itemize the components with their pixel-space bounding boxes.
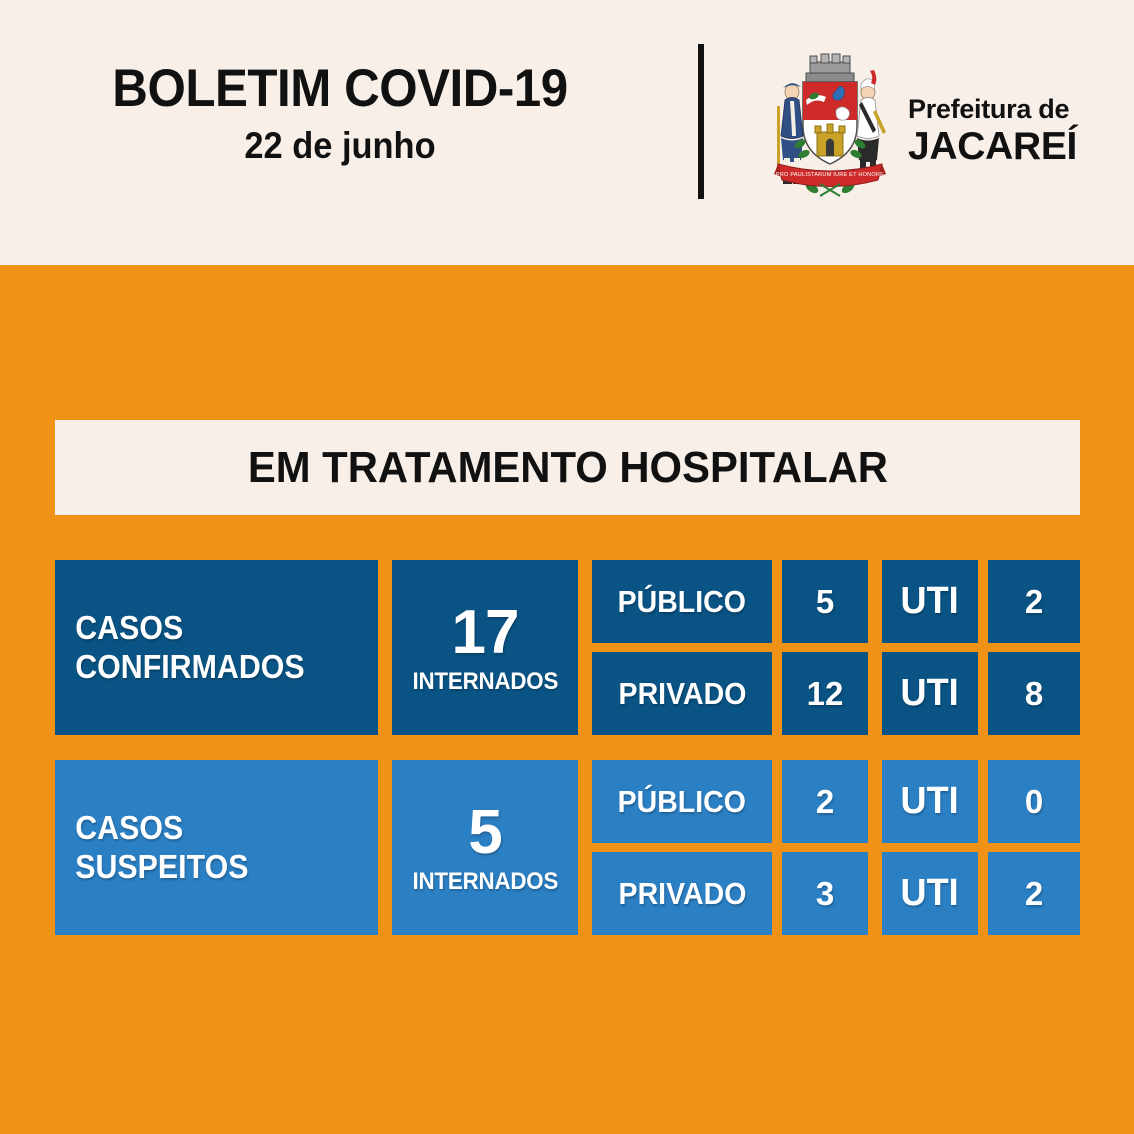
svg-text:PRO PAULISTARUM IURE ET HONORE: PRO PAULISTARUM IURE ET HONORE <box>776 172 884 178</box>
brand-prefeitura-label: Prefeitura de <box>908 96 1077 123</box>
subrow-uti-count-value: 8 <box>1025 675 1043 713</box>
subrow-uti-label: UTI <box>901 580 959 623</box>
subrow-count-cell: 12 <box>782 652 868 735</box>
subrow-uti-count-cell: 8 <box>988 652 1080 735</box>
brand-city-name: JACAREÍ <box>908 127 1077 166</box>
brand-text: Prefeitura de JACAREÍ <box>908 96 1077 166</box>
subrow-uti-count-cell: 2 <box>988 560 1080 643</box>
subrow-count-cell: 2 <box>782 760 868 843</box>
subrow-type-label: PÚBLICO <box>618 584 746 620</box>
jacarei-coat-of-arms-icon: PRO PAULISTARUM IURE ET HONORE <box>770 48 890 203</box>
header-title-block: BOLETIM COVID-19 22 de junho <box>0 62 680 164</box>
subrow-count-cell: 3 <box>782 852 868 935</box>
subrow-uti-count-cell: 0 <box>988 760 1080 843</box>
subrow-uti-cell: UTI <box>882 560 978 643</box>
subrow-uti-label: UTI <box>901 780 959 823</box>
table-row: CASOS CONFIRMADOS 17 INTERNADOS PÚBLICO … <box>55 560 1080 735</box>
row-total-caption: INTERNADOS <box>412 670 558 694</box>
row-total-number: 17 <box>407 602 564 664</box>
table-row: CASOS SUSPEITOS 5 INTERNADOS PÚBLICO 2 U… <box>55 760 1080 935</box>
row-label-cell: CASOS CONFIRMADOS <box>55 560 378 735</box>
subrow-type-label: PÚBLICO <box>618 784 746 820</box>
subrow-count-value: 2 <box>816 783 834 821</box>
row-label-line1: CASOS <box>75 609 183 646</box>
subrow-count-value: 5 <box>816 583 834 621</box>
row-label-text: CASOS CONFIRMADOS <box>55 609 352 686</box>
subrow-uti-cell: UTI <box>882 760 978 843</box>
row-total-caption: INTERNADOS <box>412 870 558 894</box>
section-banner: EM TRATAMENTO HOSPITALAR <box>55 420 1080 515</box>
subrow-count-cell: 5 <box>782 560 868 643</box>
row-label-line1: CASOS <box>75 809 183 846</box>
covid-bulletin-infographic: BOLETIM COVID-19 22 de junho <box>0 0 1134 1134</box>
subrow-type-label: PRIVADO <box>618 876 746 912</box>
row-label-text: CASOS SUSPEITOS <box>55 809 352 886</box>
subrow-type-cell: PÚBLICO <box>592 760 772 843</box>
row-total-cell: 17 INTERNADOS <box>392 560 578 735</box>
row-label-line2: CONFIRMADOS <box>75 648 304 685</box>
subrow-count-value: 12 <box>807 675 844 713</box>
row-label-cell: CASOS SUSPEITOS <box>55 760 378 935</box>
subrow-uti-count-value: 2 <box>1025 583 1043 621</box>
subrow-type-cell: PRIVADO <box>592 652 772 735</box>
row-total-stack: 17 INTERNADOS <box>407 602 564 694</box>
row-total-number: 5 <box>407 802 564 864</box>
row-total-stack: 5 INTERNADOS <box>407 802 564 894</box>
header-bar: BOLETIM COVID-19 22 de junho <box>0 0 1134 265</box>
row-total-cell: 5 INTERNADOS <box>392 760 578 935</box>
subrow-type-label: PRIVADO <box>618 676 746 712</box>
subrow-uti-cell: UTI <box>882 852 978 935</box>
subrow-uti-label: UTI <box>901 872 959 915</box>
bulletin-date: 22 de junho <box>24 127 656 164</box>
section-title: EM TRATAMENTO HOSPITALAR <box>247 443 887 493</box>
subrow-uti-count-cell: 2 <box>988 852 1080 935</box>
subrow-count-value: 3 <box>816 875 834 913</box>
row-label-line2: SUSPEITOS <box>75 848 248 885</box>
subrow-type-cell: PRIVADO <box>592 852 772 935</box>
page-title: BOLETIM COVID-19 <box>24 62 656 115</box>
brand-block: PRO PAULISTARUM IURE ET HONORE Prefeitur… <box>770 48 1100 208</box>
header-divider <box>698 44 704 199</box>
subrow-uti-cell: UTI <box>882 652 978 735</box>
subrow-type-cell: PÚBLICO <box>592 560 772 643</box>
subrow-uti-count-value: 2 <box>1025 875 1043 913</box>
subrow-uti-label: UTI <box>901 672 959 715</box>
subrow-uti-count-value: 0 <box>1025 783 1043 821</box>
